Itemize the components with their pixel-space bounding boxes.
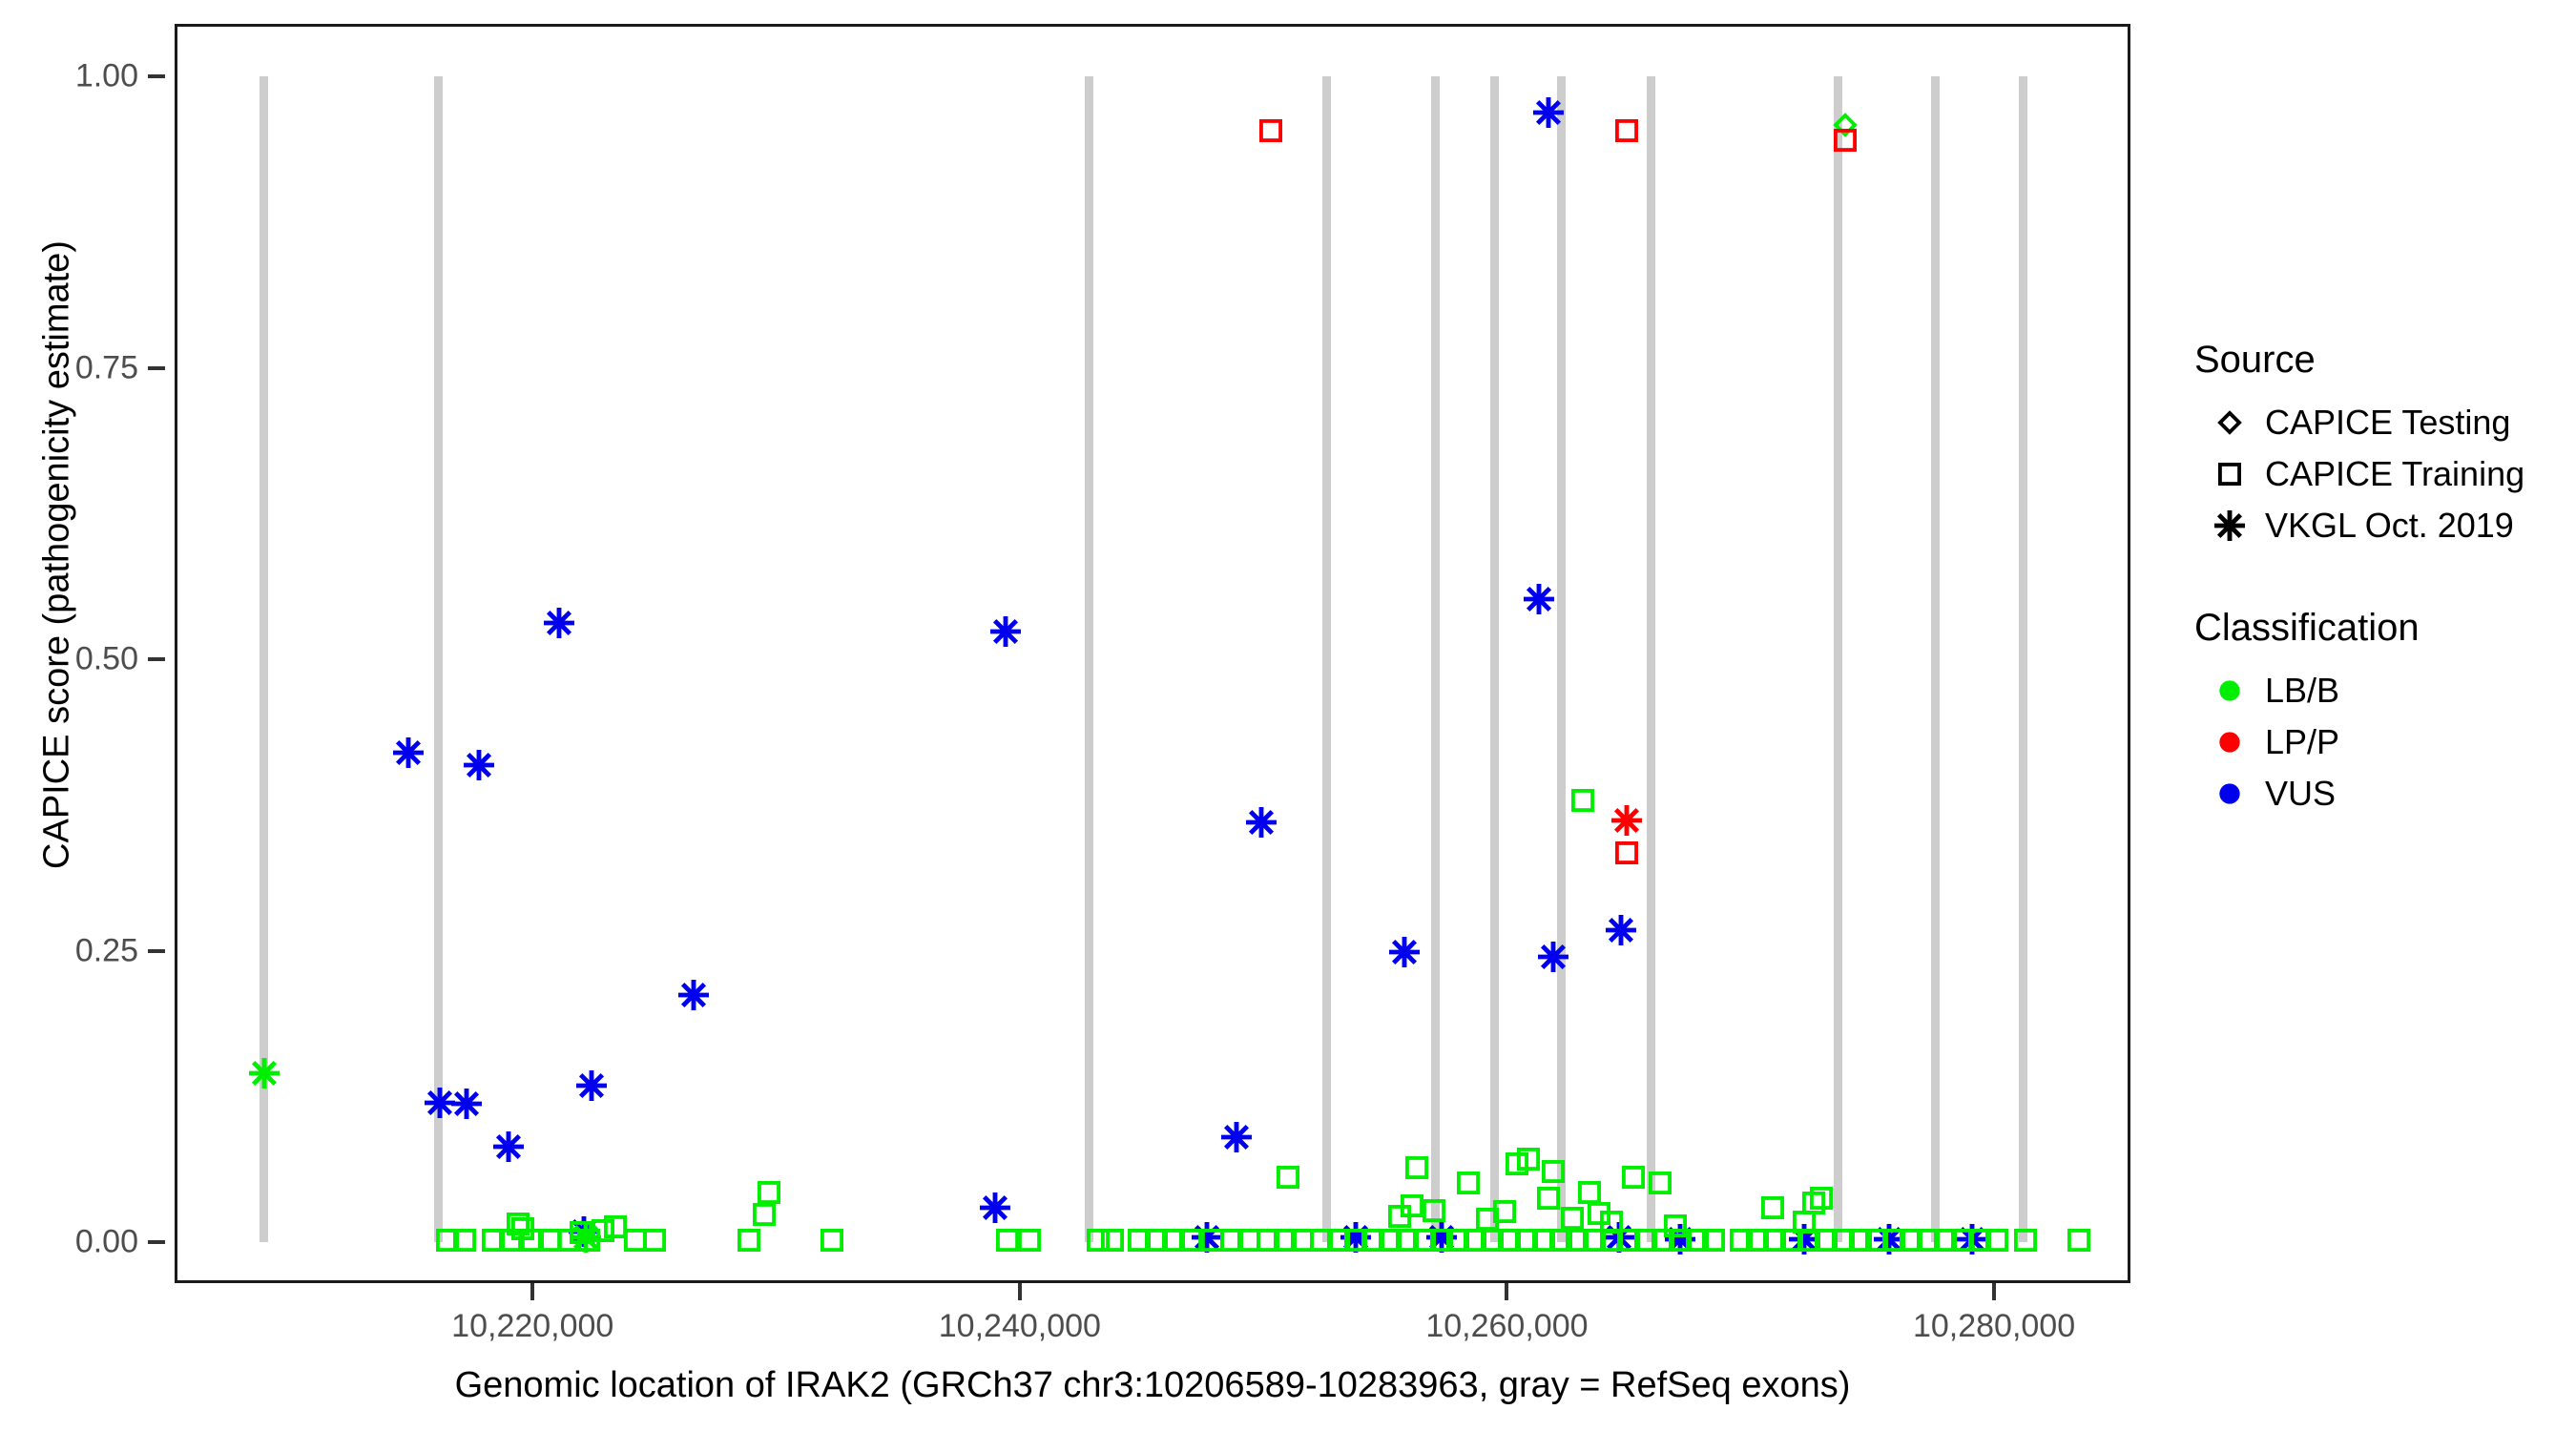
scatter-point (1517, 1148, 1540, 1171)
x-tick-mark (1992, 1283, 1996, 1300)
scatter-point (1702, 1229, 1725, 1252)
scatter-point (1538, 942, 1568, 972)
y-axis-title: CAPICE score (pathogenicity estimate) (37, 0, 78, 1118)
y-tick-label: 0.00 (75, 1224, 138, 1261)
scatter-point (758, 1181, 780, 1204)
scatter-point (2014, 1229, 2037, 1252)
legend-group-title: Classification (2194, 607, 2566, 650)
scatter-point (1578, 1181, 1601, 1204)
chart-legend: SourceCAPICE TestingCAPICE TrainingVKGL … (2194, 339, 2566, 875)
y-axis: CAPICE score (pathogenicity estimate) 0.… (0, 0, 175, 1307)
scatter-point (1615, 119, 1638, 142)
asterisk-icon (2194, 500, 2265, 551)
x-tick-label: 10,260,000 (1425, 1308, 1588, 1345)
scatter-point (451, 1089, 482, 1119)
y-tick-label: 0.25 (75, 932, 138, 969)
scatter-point (1401, 1194, 1423, 1217)
y-tick-label: 0.50 (75, 641, 138, 678)
scatter-point (821, 1229, 843, 1252)
y-tick-mark (148, 366, 165, 370)
scatter-point (1533, 97, 1564, 128)
y-tick-label: 0.75 (75, 349, 138, 386)
scatter-point (1246, 807, 1277, 838)
scatter-point (1457, 1172, 1480, 1194)
scatter-point (1018, 1229, 1041, 1252)
legend-item-label: VUS (2265, 774, 2336, 814)
scatter-point (577, 1229, 600, 1252)
scatter-point (1179, 1229, 1202, 1252)
y-tick-label: 1.00 (75, 58, 138, 95)
scatter-point (464, 750, 494, 780)
scatter-point (393, 737, 424, 768)
chart-root: CAPICE score (pathogenicity estimate) 0.… (0, 0, 2576, 1431)
x-tick-label: 10,280,000 (1913, 1308, 2075, 1345)
x-tick-mark (1505, 1283, 1508, 1300)
scatter-point (990, 616, 1021, 647)
x-axis-title: Genomic location of IRAK2 (GRCh37 chr3:1… (175, 1365, 2130, 1406)
scatter-point (1622, 1166, 1645, 1189)
y-tick-mark (148, 949, 165, 953)
legend-item[interactable]: VKGL Oct. 2019 (2194, 500, 2566, 551)
scatter-point (1542, 1160, 1565, 1183)
legend-item[interactable]: CAPICE Training (2194, 448, 2566, 500)
circle-icon (2194, 716, 2265, 768)
scatter-point (1493, 1200, 1516, 1223)
scatter-point (2067, 1229, 2090, 1252)
legend-item[interactable]: LB/B (2194, 665, 2566, 716)
circle-icon (2194, 768, 2265, 819)
scatter-point (678, 980, 709, 1010)
scatter-point (1537, 1187, 1560, 1210)
scatter-point (643, 1229, 666, 1252)
scatter-point (1611, 805, 1642, 836)
legend-item-label: CAPICE Testing (2265, 403, 2510, 443)
square-icon (2194, 448, 2265, 500)
x-tick-mark (530, 1283, 534, 1300)
scatter-point (1761, 1196, 1784, 1219)
scatter-point (1649, 1172, 1672, 1194)
scatter-point (1221, 1122, 1252, 1152)
scatter-point (499, 1229, 522, 1252)
scatter-point (249, 1058, 280, 1089)
legend-item[interactable]: VUS (2194, 768, 2566, 819)
scatter-point (1571, 789, 1594, 812)
scatter-point (980, 1192, 1010, 1223)
y-tick-mark (148, 1240, 165, 1244)
scatter-point (1524, 584, 1554, 614)
legend-item-label: CAPICE Training (2265, 454, 2524, 494)
diamond-icon (2194, 397, 2265, 448)
legend-group: SourceCAPICE TestingCAPICE TrainingVKGL … (2194, 339, 2566, 551)
scatter-point (576, 1070, 607, 1101)
scatter-point (1389, 937, 1420, 967)
legend-item-label: LB/B (2265, 671, 2339, 711)
x-tick-mark (1018, 1283, 1022, 1300)
scatter-point (1985, 1229, 2008, 1252)
scatter-point (1615, 841, 1638, 864)
x-axis: Genomic location of IRAK2 (GRCh37 chr3:1… (175, 1283, 2130, 1426)
y-tick-mark (148, 657, 165, 661)
scatter-points-layer (175, 24, 2130, 1283)
scatter-point (753, 1203, 776, 1226)
legend-item-label: LP/P (2265, 722, 2339, 762)
legend-group: ClassificationLB/BLP/PVUS (2194, 607, 2566, 819)
legend-item[interactable]: CAPICE Testing (2194, 397, 2566, 448)
scatter-point (1405, 1156, 1428, 1179)
scatter-point (1259, 119, 1282, 142)
x-tick-label: 10,240,000 (939, 1308, 1101, 1345)
scatter-point (996, 1229, 1019, 1252)
scatter-point (544, 608, 574, 638)
scatter-point (1606, 915, 1636, 945)
plot-panel (175, 24, 2130, 1283)
scatter-point (1277, 1166, 1299, 1189)
scatter-point (737, 1229, 760, 1252)
legend-item[interactable]: LP/P (2194, 716, 2566, 768)
scatter-point (493, 1131, 524, 1162)
scatter-point (453, 1229, 476, 1252)
x-tick-label: 10,220,000 (451, 1308, 613, 1345)
legend-group-title: Source (2194, 339, 2566, 382)
circle-icon (2194, 665, 2265, 716)
scatter-point (1423, 1199, 1445, 1222)
legend-item-label: VKGL Oct. 2019 (2265, 506, 2514, 546)
y-tick-mark (148, 74, 165, 78)
scatter-point (1561, 1207, 1584, 1230)
scatter-point (1101, 1229, 1124, 1252)
scatter-point (1834, 129, 1857, 152)
